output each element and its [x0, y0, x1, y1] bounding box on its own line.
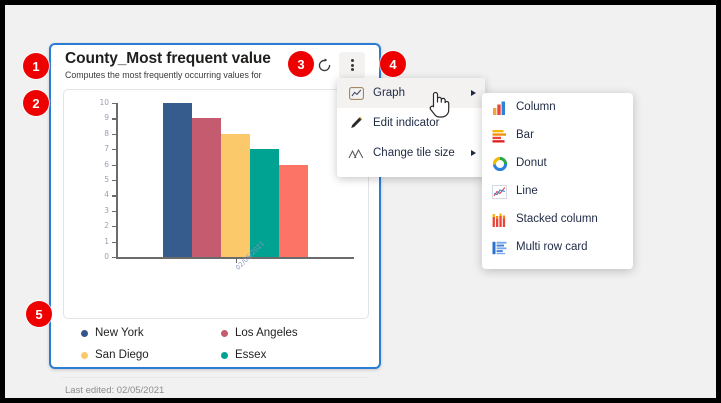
multi-row-card-icon [491, 240, 508, 255]
tile-subtitle: Computes the most frequently occurring v… [65, 70, 317, 80]
y-axis-tick-label: 0 [91, 252, 109, 261]
y-axis-tick-label: 9 [91, 113, 109, 122]
legend-color-swatch [221, 352, 228, 359]
submenu-item-label: Column [516, 101, 556, 113]
submenu-item-line[interactable]: Line [482, 177, 633, 205]
legend-color-swatch [81, 352, 88, 359]
submenu-item-label: Donut [516, 157, 547, 169]
callout-badge-5: 5 [26, 301, 52, 327]
y-axis-tick [112, 242, 116, 243]
bar-chart-icon [491, 128, 508, 143]
callout-badge-1: 1 [23, 53, 49, 79]
chart-bar[interactable] [250, 149, 279, 257]
y-axis-tick-label: 6 [91, 160, 109, 169]
context-menu[interactable]: GraphEdit indicatorChange tile size [337, 78, 485, 177]
chart-bar[interactable] [221, 134, 250, 257]
submenu-item-label: Stacked column [516, 213, 598, 225]
submenu-item-bar[interactable]: Bar [482, 121, 633, 149]
legend-color-swatch [221, 330, 228, 337]
menu-item-graph[interactable]: Graph [337, 78, 485, 108]
y-axis-tick [112, 226, 116, 227]
submenu-item-column[interactable]: Column [482, 93, 633, 121]
submenu-item-stacked-column[interactable]: Stacked column [482, 205, 633, 233]
chevron-right-icon [471, 90, 476, 96]
submenu-item-label: Bar [516, 129, 534, 141]
column-chart-icon [491, 100, 508, 115]
screenshot-frame: County_Most frequent value Computes the … [5, 5, 716, 398]
callout-badge-3: 3 [288, 51, 314, 77]
y-axis-tick [112, 211, 116, 212]
pencil-icon [347, 115, 365, 131]
y-axis-tick-label: 4 [91, 190, 109, 199]
refresh-icon [317, 58, 332, 73]
graph-submenu[interactable]: ColumnBarDonutLineStacked columnMulti ro… [482, 93, 633, 269]
legend-item-label: New York [95, 327, 144, 339]
tile-header: County_Most frequent value Computes the … [51, 45, 379, 85]
y-axis-tick [112, 118, 116, 119]
legend-item[interactable]: San Diego [81, 349, 149, 361]
y-axis-tick-label: 1 [91, 237, 109, 246]
submenu-item-multi-row-card[interactable]: Multi row card [482, 233, 633, 261]
tile-size-icon [347, 145, 365, 161]
y-axis-tick [112, 149, 116, 150]
chart-bar[interactable] [279, 165, 308, 257]
donut-chart-icon [491, 156, 508, 171]
y-axis-tick [112, 257, 116, 258]
submenu-item-label: Line [516, 185, 538, 197]
chart-bar[interactable] [163, 103, 192, 257]
page-title: County_Most frequent value [65, 50, 315, 68]
y-axis-tick [112, 180, 116, 181]
line-chart-icon [491, 184, 508, 199]
y-axis-tick [112, 103, 116, 104]
chart-panel: 01234567891002/05/2021 [63, 89, 369, 319]
callout-badge-2: 2 [23, 90, 49, 116]
divider [61, 377, 369, 378]
y-axis-tick [112, 165, 116, 166]
refresh-button[interactable] [313, 54, 335, 76]
y-axis-tick [112, 195, 116, 196]
chart-bar[interactable] [192, 118, 221, 257]
y-axis-tick-label: 10 [91, 98, 109, 107]
legend-item-label: Essex [235, 349, 266, 361]
legend-item-label: Los Angeles [235, 327, 298, 339]
menu-item-edit-indicator[interactable]: Edit indicator [337, 108, 485, 138]
bar-chart: 01234567891002/05/2021 [64, 90, 369, 319]
menu-item-label: Edit indicator [373, 117, 439, 129]
y-axis-tick-label: 7 [91, 144, 109, 153]
legend-item[interactable]: Essex [221, 349, 266, 361]
last-edited-label: Last edited: 02/05/2021 [65, 385, 164, 396]
menu-item-label: Graph [373, 87, 405, 99]
legend-item[interactable]: Los Angeles [221, 327, 298, 339]
graph-icon [347, 85, 365, 101]
more-options-icon [351, 58, 354, 73]
y-axis-tick [112, 134, 116, 135]
callout-badge-4: 4 [380, 51, 406, 77]
indicator-tile[interactable]: County_Most frequent value Computes the … [49, 43, 381, 369]
menu-item-change-tile-size[interactable]: Change tile size [337, 138, 485, 168]
y-axis-tick-label: 2 [91, 221, 109, 230]
y-axis-tick-label: 3 [91, 206, 109, 215]
legend-color-swatch [81, 330, 88, 337]
y-axis-tick-label: 5 [91, 175, 109, 184]
submenu-item-label: Multi row card [516, 241, 588, 253]
chevron-right-icon [471, 150, 476, 156]
stacked-column-chart-icon [491, 212, 508, 227]
y-axis-tick-label: 8 [91, 129, 109, 138]
legend-item[interactable]: New York [81, 327, 144, 339]
chart-legend: New YorkLos AngelesSan DiegoEssex [63, 327, 369, 371]
legend-item-label: San Diego [95, 349, 149, 361]
submenu-item-donut[interactable]: Donut [482, 149, 633, 177]
more-options-button[interactable] [339, 52, 365, 78]
menu-item-label: Change tile size [373, 147, 455, 159]
y-axis-line [116, 103, 118, 257]
